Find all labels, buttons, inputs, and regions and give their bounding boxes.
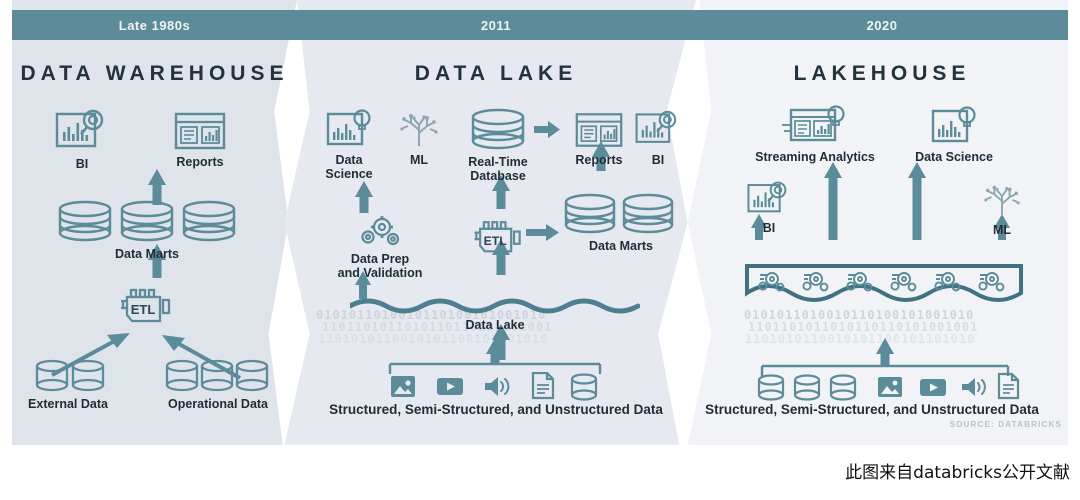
database-cylinder-icon: [163, 358, 273, 394]
node-reports-lake: Reports: [562, 110, 636, 167]
node-label: Data Science: [898, 150, 1010, 164]
node-label: Streaming Analytics: [740, 150, 890, 164]
lakehouse-source-icons: [748, 372, 1028, 402]
database-icon: [831, 376, 855, 400]
document-icon: [999, 374, 1018, 398]
reports-window-icon: [574, 110, 624, 150]
node-label: Data Lake: [425, 318, 565, 332]
bar-chart-magnifier-icon: [54, 108, 110, 154]
node-label: Reports: [562, 153, 636, 167]
node-data-marts-warehouse: Data Marts: [42, 198, 252, 261]
database-cylinder-icon: [562, 192, 680, 236]
node-data-marts-lake: Data Marts: [556, 192, 686, 253]
node-label: BI: [42, 157, 122, 171]
bar-chart-magnifier-icon: [746, 180, 792, 218]
video-icon: [920, 379, 946, 396]
bar-chart-bulb-icon: [930, 105, 978, 147]
database-icon: [795, 376, 819, 400]
node-etl-warehouse: ETL ETL: [110, 288, 182, 349]
node-label: Data Marts: [556, 239, 686, 253]
lake-source-icons: [380, 372, 612, 402]
database-cylinder-icon: [52, 198, 242, 244]
sources-label: Structured, Semi-Structured, and Unstruc…: [676, 402, 1068, 417]
node-label: Data Marts: [42, 247, 252, 261]
era-header-warehouse: Late 1980s: [12, 10, 297, 40]
node-label: Operational Data: [148, 397, 288, 411]
panel-title-lakehouse: LAKEHOUSE: [696, 62, 1068, 86]
etl-engine-icon: ETL: [112, 288, 180, 332]
node-real-time-database: Real-Time Database: [455, 106, 541, 184]
era-label: 2011: [481, 18, 511, 33]
node-ml-lake: ML: [388, 108, 450, 167]
document-icon: [533, 373, 553, 398]
database-cylinder-icon: [31, 358, 105, 394]
node-operational-data: Operational Data: [148, 358, 288, 411]
node-label: ML: [972, 223, 1032, 237]
image-icon: [878, 377, 902, 397]
node-etl-lake: ETL ETL: [463, 220, 533, 279]
database-cylinder-icon: [470, 106, 526, 152]
node-bi-lakehouse: BI: [738, 180, 800, 235]
era-header-lake: 2011: [296, 10, 696, 40]
svg-text:ETL: ETL: [484, 234, 508, 248]
node-ml-lakehouse: ML: [972, 180, 1032, 237]
node-data-science-lakehouse: Data Science: [898, 105, 1010, 164]
era-label: 2020: [867, 18, 898, 33]
lakehouse-sources-label: Structured, Semi-Structured, and Unstruc…: [676, 402, 1068, 417]
node-bi-lake: BI: [628, 108, 688, 167]
video-icon: [437, 378, 463, 395]
circuit-brain-icon: [981, 180, 1023, 220]
circuit-brain-icon: [398, 108, 440, 150]
bar-chart-magnifier-icon: [634, 108, 682, 150]
reports-window-icon: [173, 110, 227, 152]
node-external-data: External Data: [8, 358, 128, 411]
etl-engine-icon: ETL: [466, 220, 530, 262]
database-icon: [572, 375, 596, 400]
gears-icon: [352, 215, 408, 249]
node-data-prep: Data Prep and Validation: [320, 215, 440, 281]
node-label: ML: [388, 153, 450, 167]
wave-icon: [350, 296, 640, 316]
era-label: Late 1980s: [119, 18, 191, 33]
node-label: External Data: [8, 397, 128, 411]
svg-text:ETL: ETL: [131, 302, 156, 317]
node-bi-warehouse: BI: [42, 108, 122, 171]
reports-bulb-icon: [782, 105, 848, 147]
node-label: Data Prep and Validation: [320, 252, 440, 281]
panel-title-lake: DATA LAKE: [296, 62, 696, 86]
audio-icon: [962, 378, 985, 396]
node-data-science-lake: Data Science: [310, 108, 388, 182]
database-icon: [759, 376, 783, 400]
image-caption: 此图来自databricks公开文献: [845, 458, 1070, 483]
node-reports-warehouse: Reports: [150, 110, 250, 169]
infographic-canvas: Late 1980s 2011 2020 DATA WAREHOUSE DATA…: [0, 0, 1080, 500]
node-data-lake-label: Data Lake: [425, 315, 565, 332]
sources-label: Structured, Semi-Structured, and Unstruc…: [296, 402, 696, 417]
image-icon: [391, 376, 415, 397]
source-credit: SOURCE: DATABRICKS: [950, 420, 1062, 429]
node-label: Reports: [150, 155, 250, 169]
node-label: BI: [628, 153, 688, 167]
panel-title-warehouse: DATA WAREHOUSE: [12, 62, 297, 86]
lake-sources-label: Structured, Semi-Structured, and Unstruc…: [296, 402, 696, 417]
node-label: BI: [738, 221, 800, 235]
audio-icon: [485, 377, 508, 396]
node-streaming-analytics: Streaming Analytics: [740, 105, 890, 164]
era-header-lakehouse: 2020: [696, 10, 1068, 40]
node-label: Real-Time Database: [455, 155, 541, 184]
node-label: Data Science: [310, 153, 388, 182]
gear-array-box-icon: [744, 263, 1024, 309]
bar-chart-bulb-icon: [325, 108, 373, 150]
